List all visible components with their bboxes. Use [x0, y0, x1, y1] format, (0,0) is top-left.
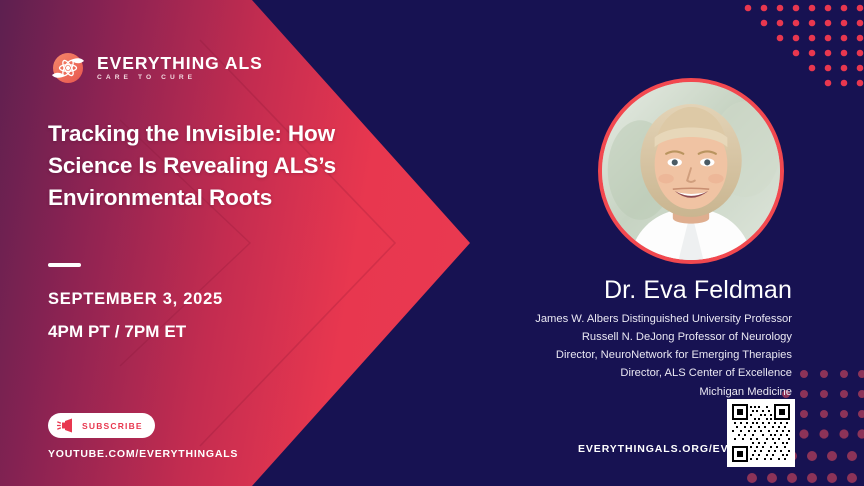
speaker-name: Dr. Eva Feldman [604, 276, 792, 305]
event-promo-poster: EVERYTHING ALS CARE TO CURE Tracking the… [0, 0, 864, 486]
event-time: 4PM PT / 7PM ET [48, 322, 186, 342]
event-title: Tracking the Invisible: How Science Is R… [48, 118, 393, 214]
title-divider [48, 263, 81, 267]
subscribe-label: SUBSCRIBE [82, 421, 143, 431]
event-date: SEPTEMBER 3, 2025 [48, 290, 223, 309]
credential-line: Russell N. DeJong Professor of Neurology [535, 328, 792, 346]
credential-line: Director, ALS Center of Excellence [535, 364, 792, 382]
logo-tagline: CARE TO CURE [97, 75, 263, 82]
credential-line: James W. Albers Distinguished University… [535, 310, 792, 328]
qr-code-icon[interactable] [727, 399, 795, 467]
speaker-portrait [598, 78, 784, 264]
dot-grid-top-right [734, 0, 864, 90]
credential-line: Director, NeuroNetwork for Emerging Ther… [535, 346, 792, 364]
youtube-url[interactable]: YOUTUBE.COM/EVERYTHINGALS [48, 448, 238, 460]
credential-line: Michigan Medicine [535, 383, 792, 401]
megaphone-icon [57, 418, 76, 433]
portrait-image [602, 82, 780, 260]
everything-als-logo[interactable]: EVERYTHING ALS CARE TO CURE [48, 48, 263, 88]
speaker-credentials: James W. Albers Distinguished University… [535, 310, 792, 401]
subscribe-button[interactable]: SUBSCRIBE [48, 413, 155, 438]
atom-in-hands-icon [48, 48, 88, 88]
logo-title: EVERYTHING ALS [97, 54, 263, 72]
